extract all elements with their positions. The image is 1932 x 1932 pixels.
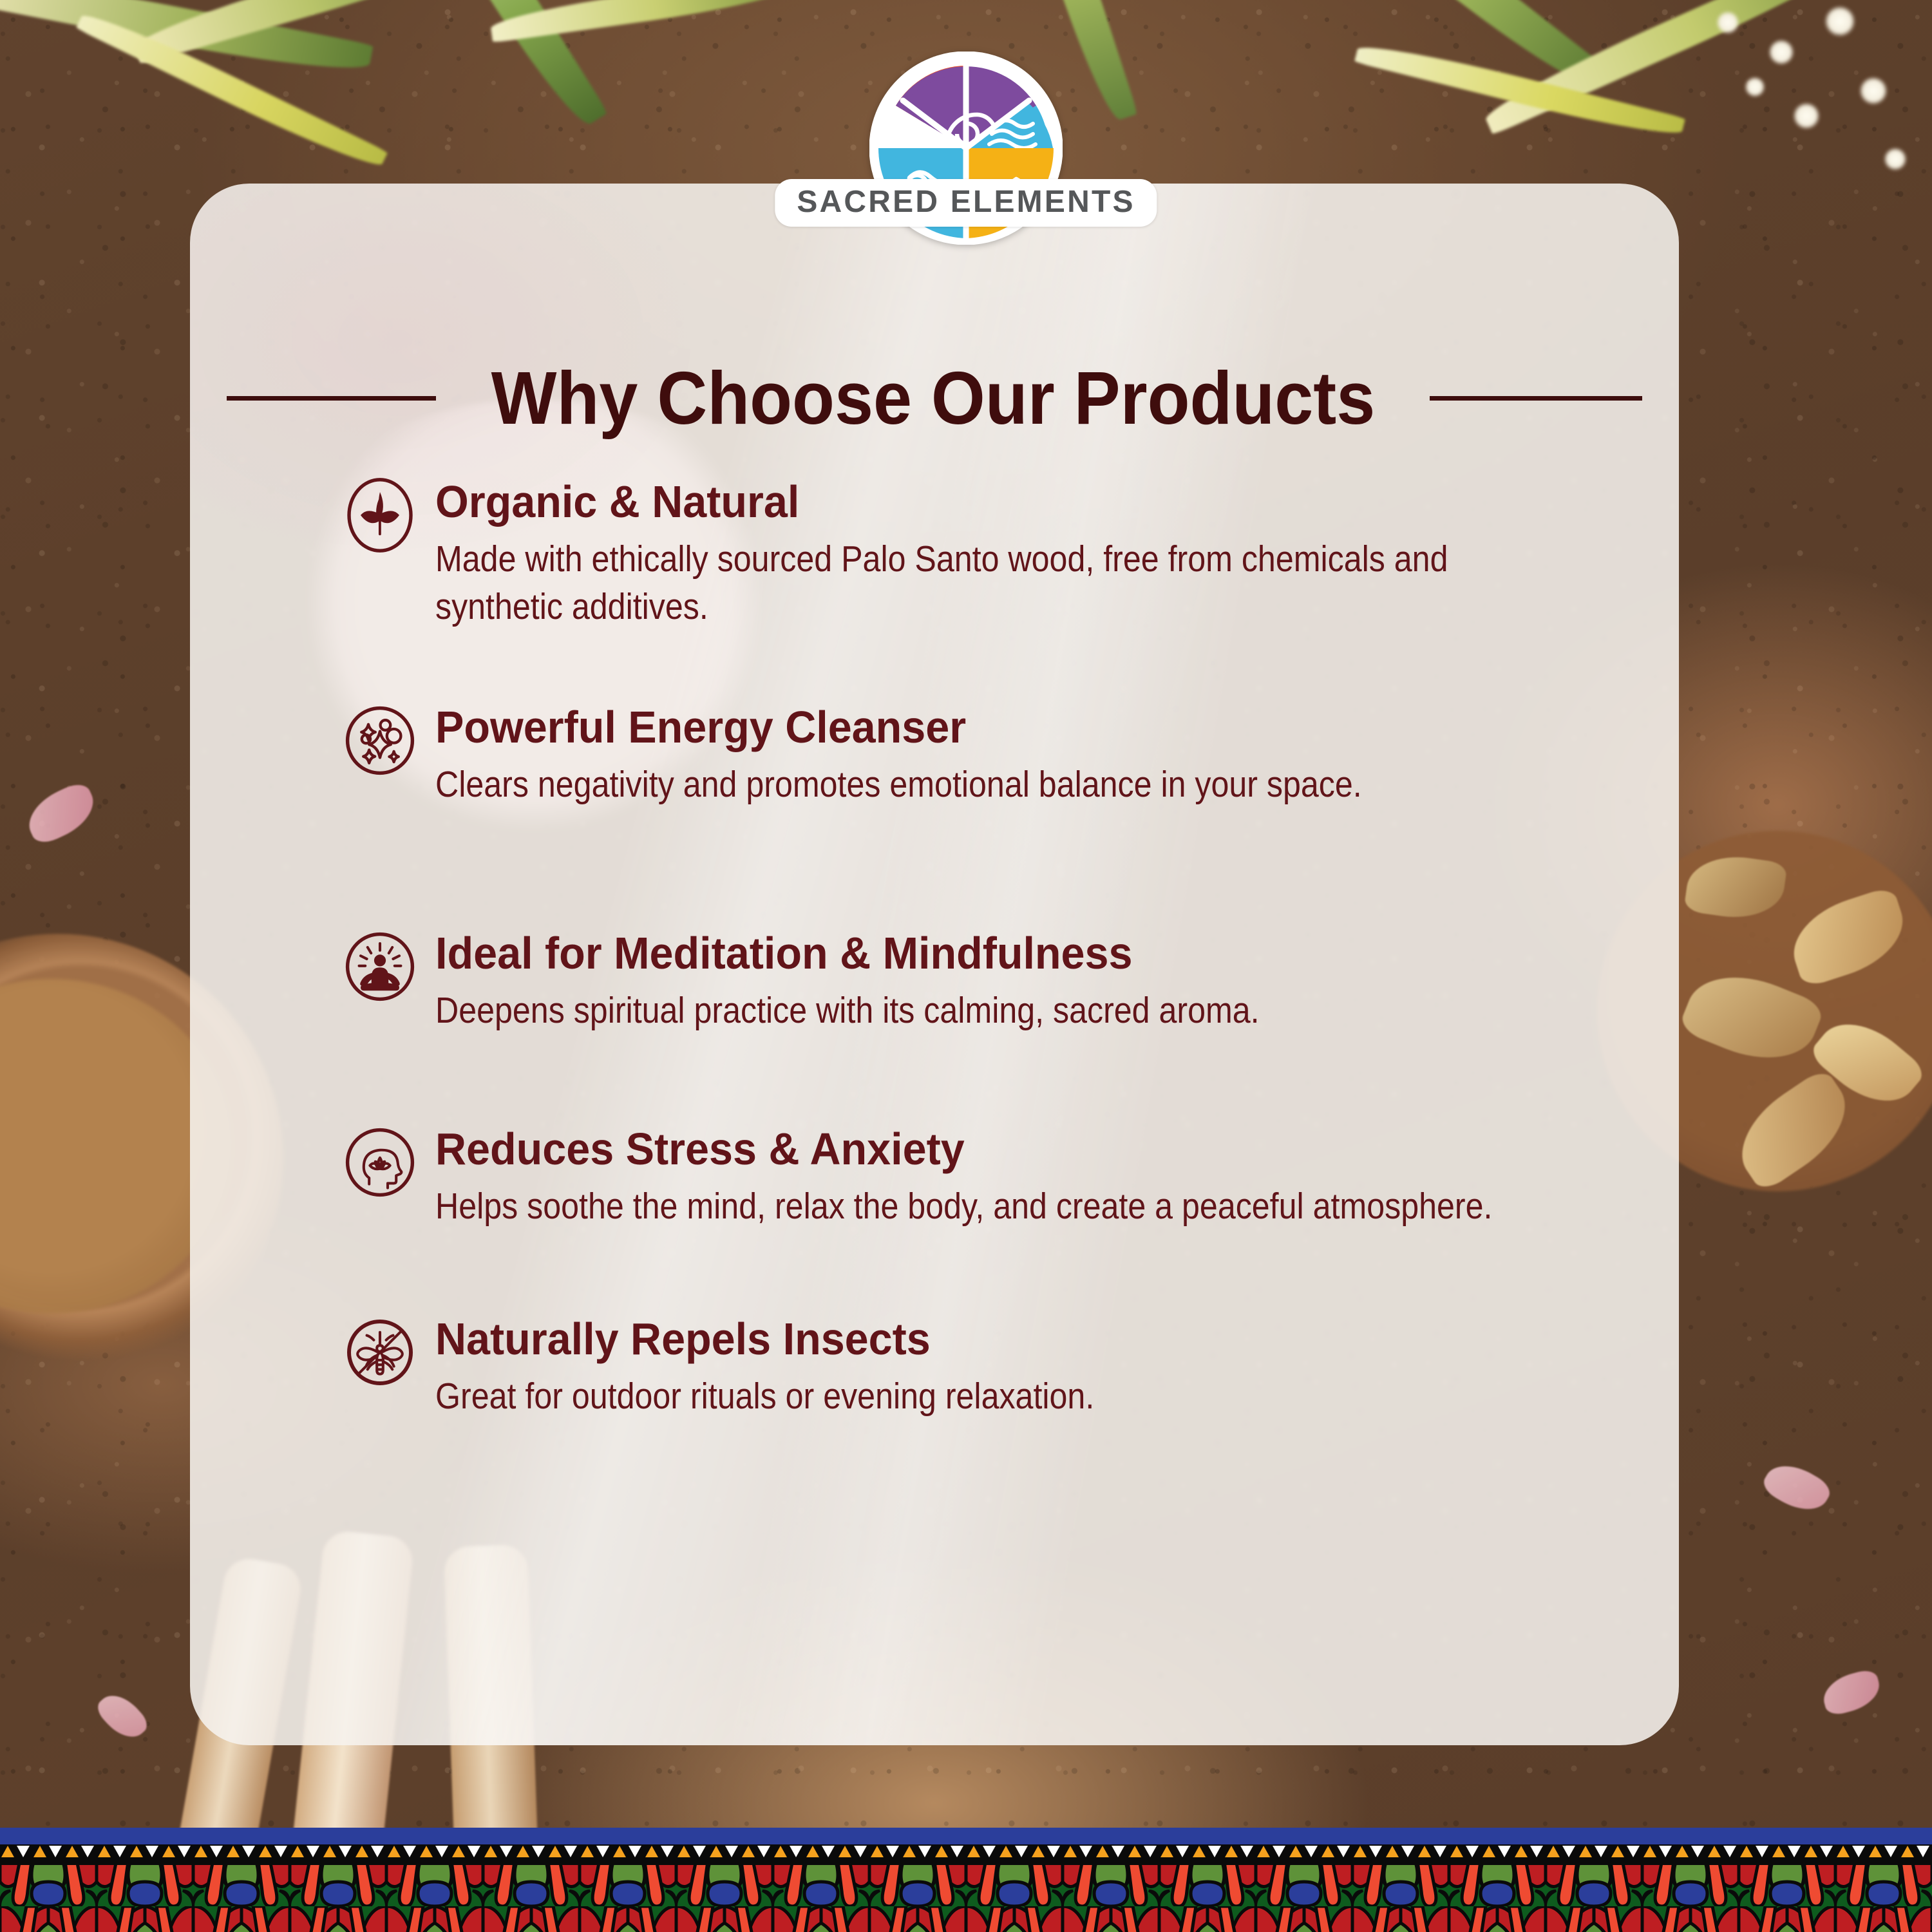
section-heading: Why Choose Our Products — [190, 361, 1679, 435]
feature-title: Powerful Energy Cleanser — [435, 705, 1600, 750]
feature-text: Organic & Natural Made with ethically so… — [435, 477, 1662, 631]
feature-description: Helps soothe the mind, relax the body, a… — [435, 1182, 1515, 1230]
leaf-icon — [341, 477, 419, 554]
background-babys-breath — [1860, 77, 1887, 104]
feature-item: Reduces Stress & Anxiety Helps soothe th… — [341, 1124, 1662, 1230]
infographic-canvas: SACRED ELEMENTS Why Choose Our Products — [0, 0, 1932, 1932]
feature-title: Organic & Natural — [435, 479, 1600, 525]
brand-name-text: SACRED ELEMENTS — [797, 187, 1135, 218]
feature-title: Naturally Repels Insects — [435, 1316, 1600, 1362]
background-babys-breath — [1884, 148, 1906, 170]
feature-text: Ideal for Meditation & Mindfulness Deepe… — [435, 928, 1662, 1034]
background-babys-breath — [1769, 40, 1794, 64]
heading-rule-left — [227, 396, 436, 401]
feature-item: Powerful Energy Cleanser Clears negativi… — [341, 702, 1662, 808]
feature-item: Organic & Natural Made with ethically so… — [341, 477, 1662, 631]
feature-item: Ideal for Meditation & Mindfulness Deepe… — [341, 928, 1662, 1034]
feature-description: Deepens spiritual practice with its calm… — [435, 987, 1515, 1034]
feature-description: Clears negativity and promotes emotional… — [435, 761, 1515, 808]
background-babys-breath — [1825, 6, 1855, 36]
feature-text: Powerful Energy Cleanser Clears negativi… — [435, 702, 1662, 808]
feature-list: Organic & Natural Made with ethically so… — [341, 477, 1662, 1421]
background-babys-breath — [1794, 103, 1819, 129]
feature-title: Ideal for Meditation & Mindfulness — [435, 931, 1600, 976]
sparkles-icon — [341, 702, 419, 779]
feature-description: Made with ethically sourced Palo Santo w… — [435, 535, 1515, 630]
feature-text: Reduces Stress & Anxiety Helps soothe th… — [435, 1124, 1662, 1230]
meditation-icon — [341, 928, 419, 1005]
feature-item: Naturally Repels Insects Great for outdo… — [341, 1314, 1662, 1420]
no-insect-icon — [341, 1314, 419, 1391]
background-babys-breath — [1717, 12, 1739, 33]
background-babys-breath — [1745, 77, 1765, 97]
feature-title: Reduces Stress & Anxiety — [435, 1126, 1600, 1172]
madhubani-lotus-border — [0, 1828, 1932, 1932]
page-title: Why Choose Our Products — [491, 361, 1375, 435]
feature-text: Naturally Repels Insects Great for outdo… — [435, 1314, 1662, 1420]
head-lotus-icon — [341, 1124, 419, 1201]
feature-description: Great for outdoor rituals or evening rel… — [435, 1372, 1515, 1420]
brand-name-badge: SACRED ELEMENTS — [775, 179, 1157, 227]
heading-rule-right — [1430, 396, 1642, 401]
